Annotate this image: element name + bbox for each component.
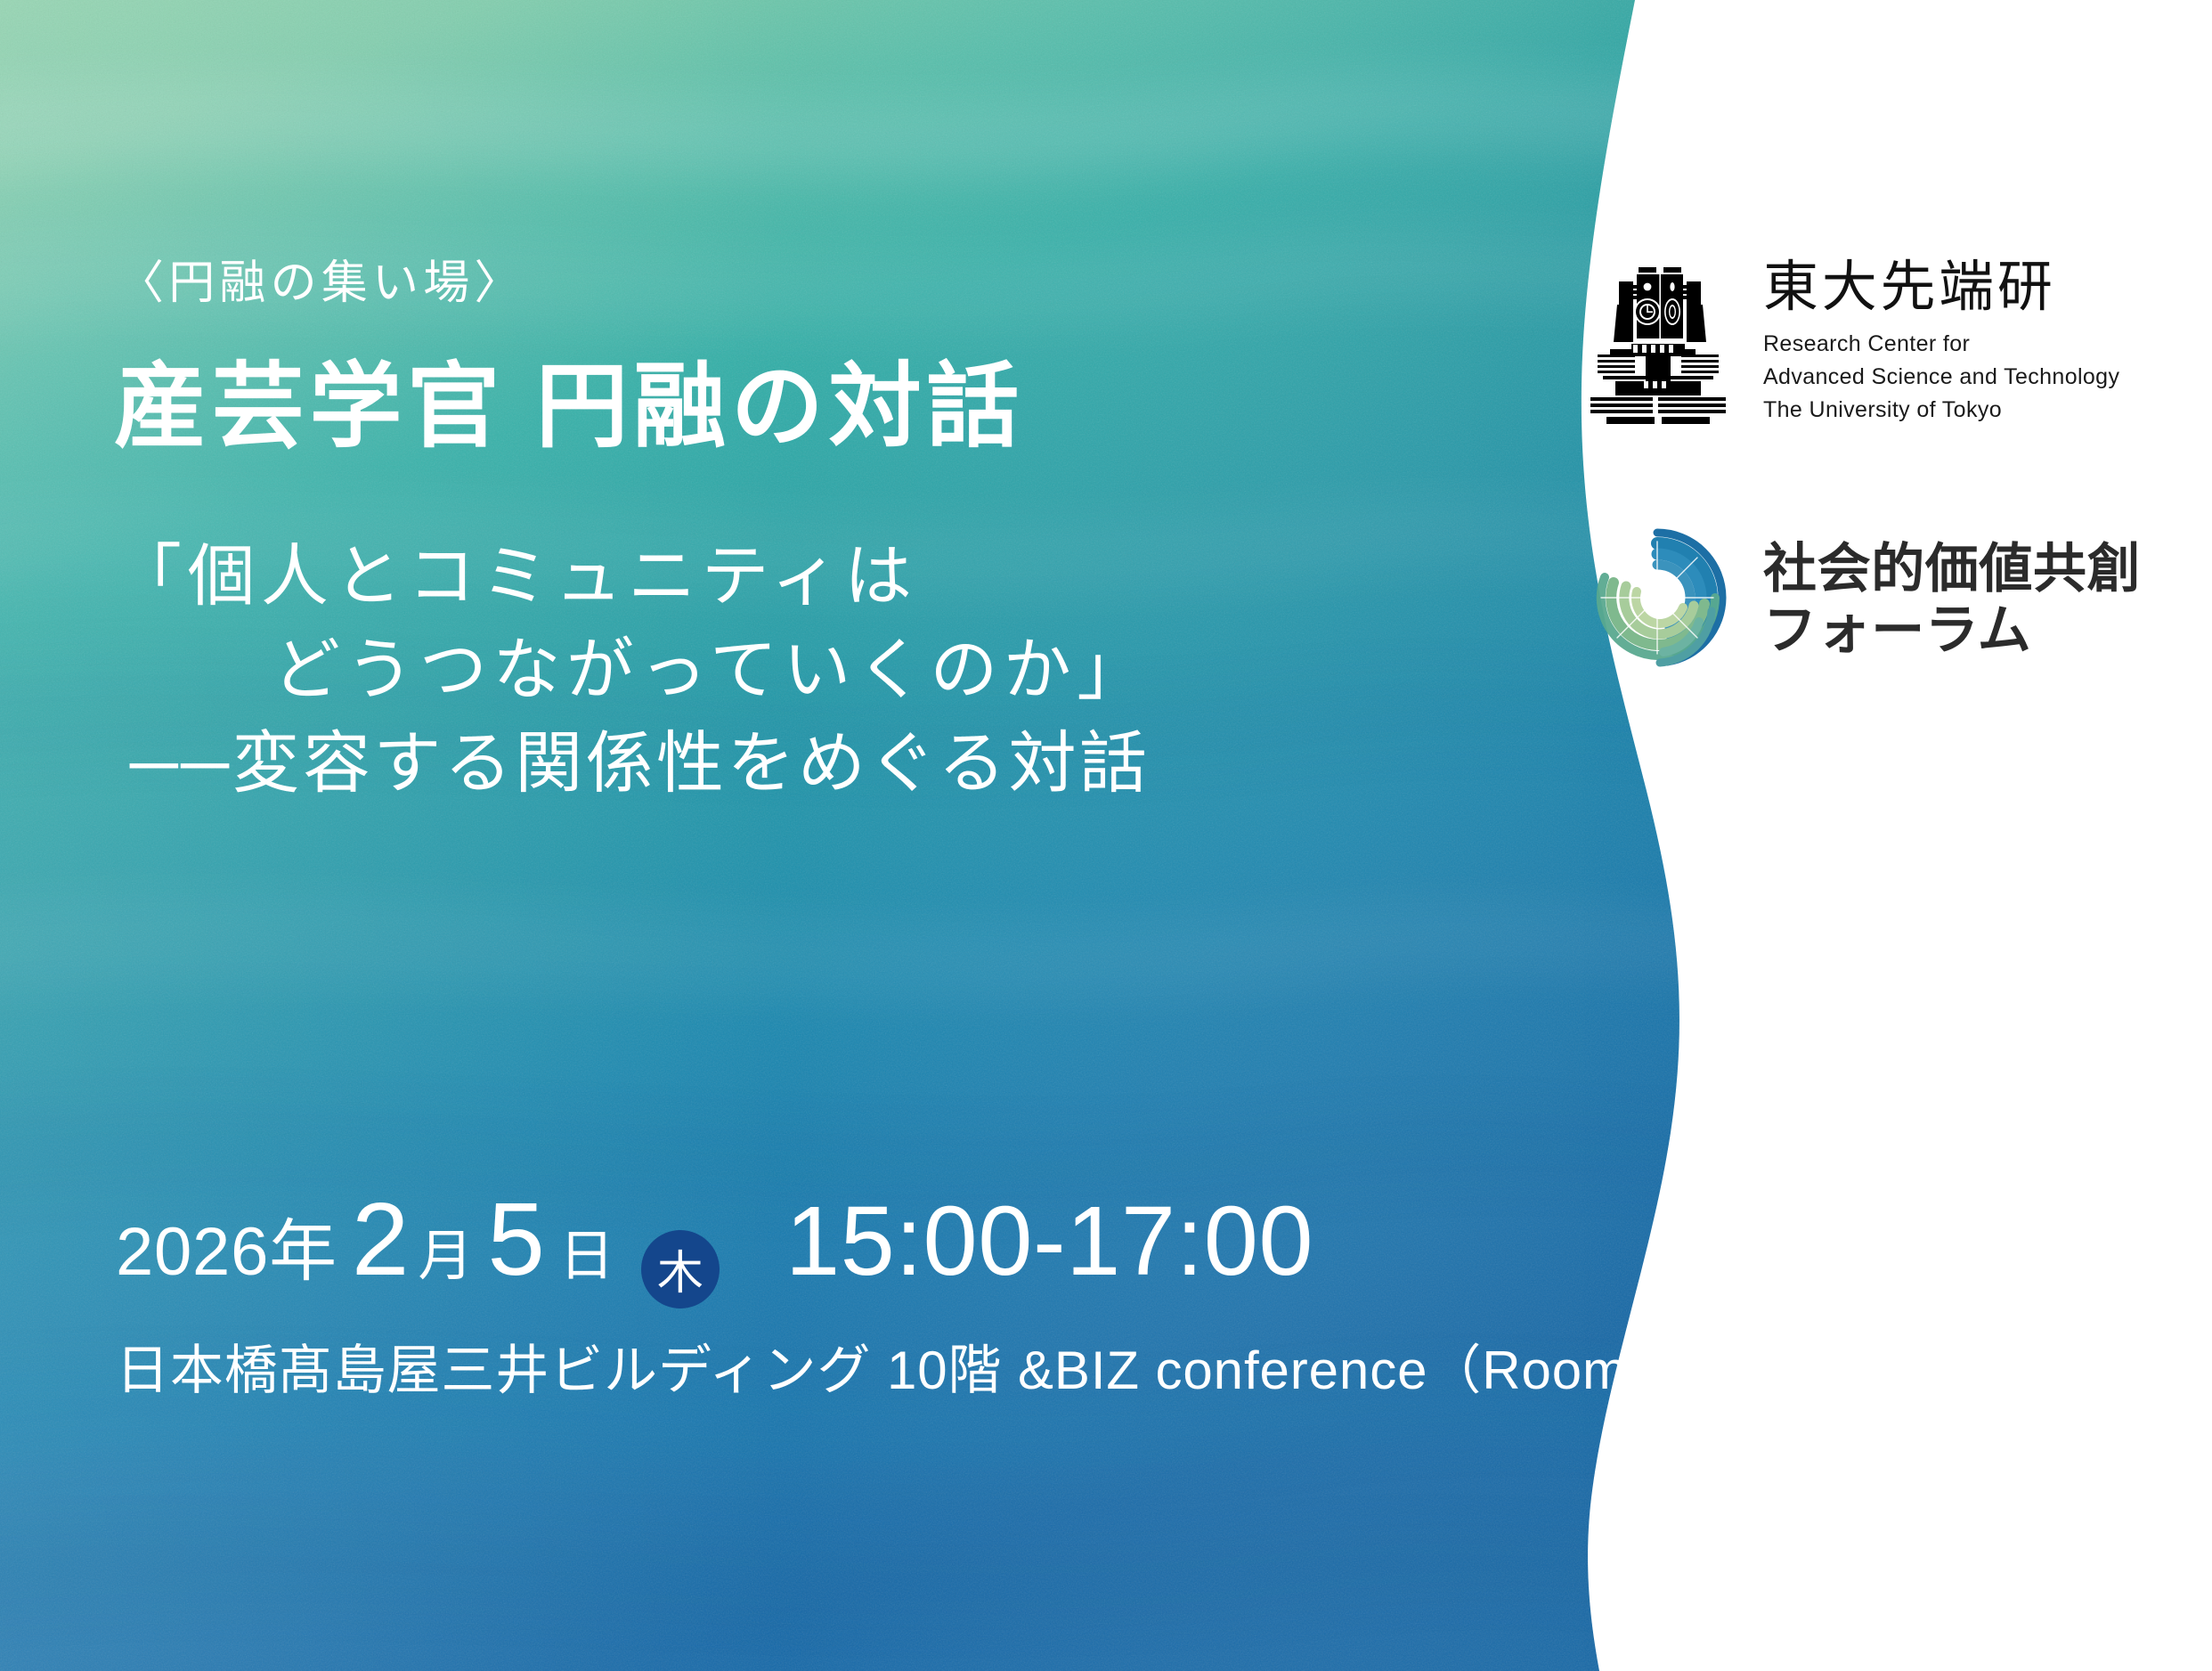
utokyo-clocktower-icon	[1583, 255, 1733, 428]
spiral-swirl-icon	[1582, 522, 1733, 678]
weekday-badge: 木	[641, 1230, 720, 1308]
event-venue: 日本橋髙島屋三井ビルディング 10階 &BIZ conference（Room …	[116, 1327, 1728, 1405]
subtitle-line-2: どうつながっていくのか」	[114, 624, 1539, 718]
poster-kicker: 〈円融の集い場〉	[118, 260, 525, 306]
event-day-unit: 日	[554, 1210, 614, 1291]
logo-utokyo-en-line-1: Research Center for	[1763, 328, 2119, 361]
logo-forum-line-2: フォーラム	[1763, 600, 2141, 661]
subtitle-line-3: ──変容する関係性をめぐる対話	[114, 718, 1539, 811]
logo-utokyo-rcast: 東大先端研 Research Center for Advanced Scien…	[1583, 255, 2119, 428]
event-datetime: 2026年 2 月 5 日 木 15:00-17:00	[116, 1185, 1313, 1298]
event-month-number: 2	[337, 1187, 419, 1291]
logo-utokyo-en-line-3: The University of Tokyo	[1763, 394, 2119, 427]
logo-utokyo-jp-name: 東大先端研	[1763, 257, 2119, 320]
logo-utokyo-en-line-2: Advanced Science and Technology	[1763, 361, 2119, 394]
subtitle-line-1: 「個人とコミュニティは	[114, 531, 1539, 624]
logo-forum-line-1: 社会的価値共創	[1763, 539, 2141, 599]
logo-utokyo-text: 東大先端研 Research Center for Advanced Scien…	[1763, 257, 2119, 428]
event-month-unit: 月	[418, 1210, 473, 1291]
logo-social-value-forum: 社会的価値共創 フォーラム	[1582, 522, 2141, 678]
event-poster: 〈円融の集い場〉 産芸学官 円融の対話 「個人とコミュニティは どうつながってい…	[0, 0, 2212, 1671]
event-day-number: 5	[473, 1187, 554, 1291]
page-title: 産芸学官 円融の対話	[114, 356, 1024, 458]
poster-content: 〈円融の集い場〉 産芸学官 円融の対話 「個人とコミュニティは どうつながってい…	[0, 0, 1603, 1671]
event-time-range: 15:00-17:00	[785, 1185, 1313, 1298]
logo-utokyo-en-block: Research Center for Advanced Science and…	[1763, 328, 2119, 427]
poster-subtitle: 「個人とコミュニティは どうつながっていくのか」 ──変容する関係性をめぐる対話	[114, 531, 1539, 811]
logo-column: 東大先端研 Research Center for Advanced Scien…	[1576, 0, 2212, 1671]
event-year: 2026年	[116, 1196, 337, 1294]
logo-forum-text: 社会的価値共創 フォーラム	[1763, 539, 2141, 661]
